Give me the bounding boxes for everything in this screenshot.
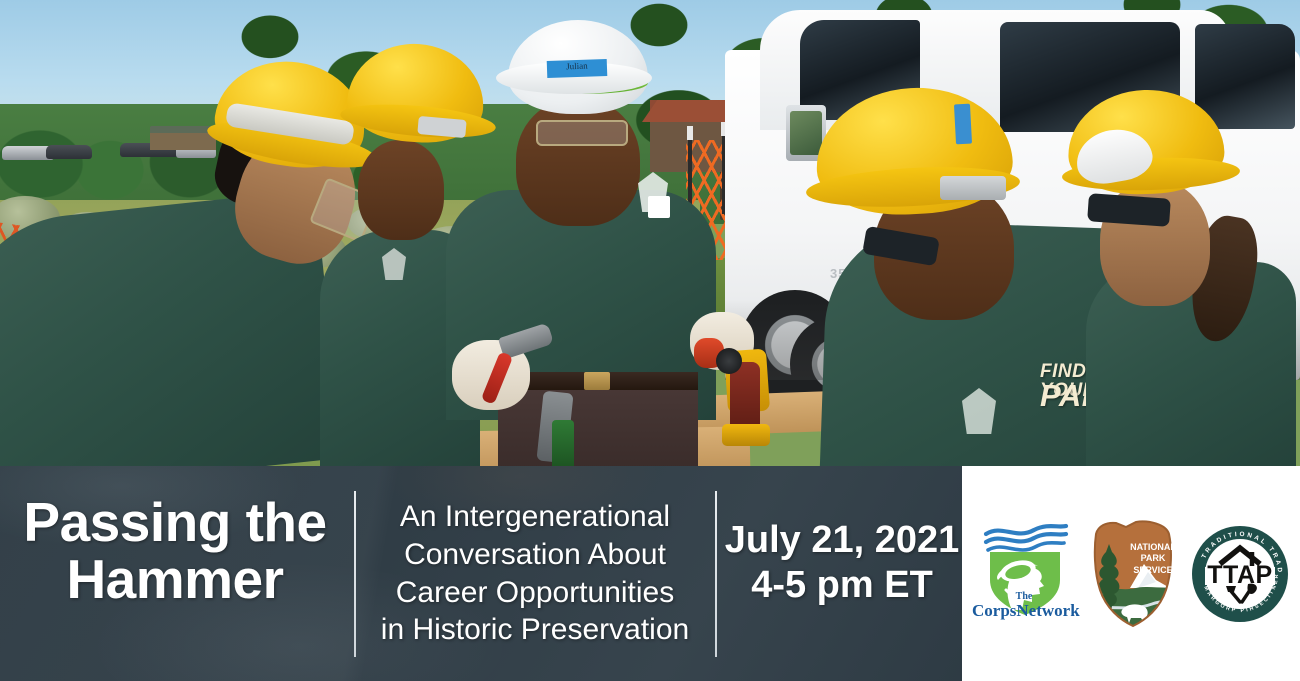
corps-network-logo: The CorpsNetwork	[972, 518, 1076, 630]
green-tool-handle	[552, 420, 574, 470]
hat-name-label: Julian	[547, 59, 608, 78]
event-datetime: July 21, 2021 4-5 pm ET	[722, 518, 962, 608]
event-date: July 21, 2021	[722, 518, 962, 563]
subtitle-line-3: Career Opportunities	[360, 574, 710, 612]
small-cabin	[150, 126, 216, 150]
belt-buckle	[584, 372, 610, 390]
title-line-1: Passing the	[0, 494, 350, 551]
vertical-divider	[715, 491, 717, 657]
worksite-photo: 3500 HD	[0, 0, 1300, 470]
subtitle-line-2: Conversation About	[360, 536, 710, 574]
ttap-acronym: TTAP	[1190, 563, 1290, 588]
ttap-logo: TRADITIONAL TRADES MARGORP PIHSECITNERPP…	[1190, 524, 1290, 624]
nps-text-line2: PARK	[1128, 553, 1178, 565]
hat-suspension-band	[940, 176, 1006, 200]
head	[516, 98, 640, 226]
sponsor-logo-panel: The CorpsNetwork	[962, 466, 1300, 681]
title-banner: Passing the Hammer An Intergenerational …	[0, 466, 962, 681]
webinar-promo-poster: 3500 HD	[0, 0, 1300, 681]
truck-window	[1195, 24, 1295, 129]
subtitle-line-4: in Historic Preservation	[360, 611, 710, 649]
national-park-service-logo: NATIONAL PARK SERVICE	[1086, 518, 1180, 630]
subtitle-line-1: An Intergenerational	[360, 498, 710, 536]
drill-chuck	[716, 348, 742, 374]
nps-text-line3: SERVICE	[1128, 565, 1178, 577]
eyeglasses	[536, 120, 628, 146]
event-title: Passing the Hammer	[0, 494, 350, 607]
hat-blue-tape	[954, 104, 972, 145]
pocket-pen	[648, 196, 670, 218]
drill-battery	[722, 424, 770, 446]
corps-network-wordmark: CorpsNetwork	[972, 602, 1076, 619]
event-subtitle: An Intergenerational Conversation About …	[360, 498, 710, 649]
nps-text-line1: NATIONAL	[1128, 542, 1178, 554]
parked-car	[46, 145, 92, 159]
event-time: 4-5 pm ET	[722, 563, 962, 608]
sunglasses	[1087, 193, 1171, 227]
corps-network-the-text: The	[972, 592, 1076, 602]
vertical-divider	[354, 491, 356, 657]
title-line-2: Hammer	[0, 551, 350, 608]
head	[358, 140, 444, 240]
